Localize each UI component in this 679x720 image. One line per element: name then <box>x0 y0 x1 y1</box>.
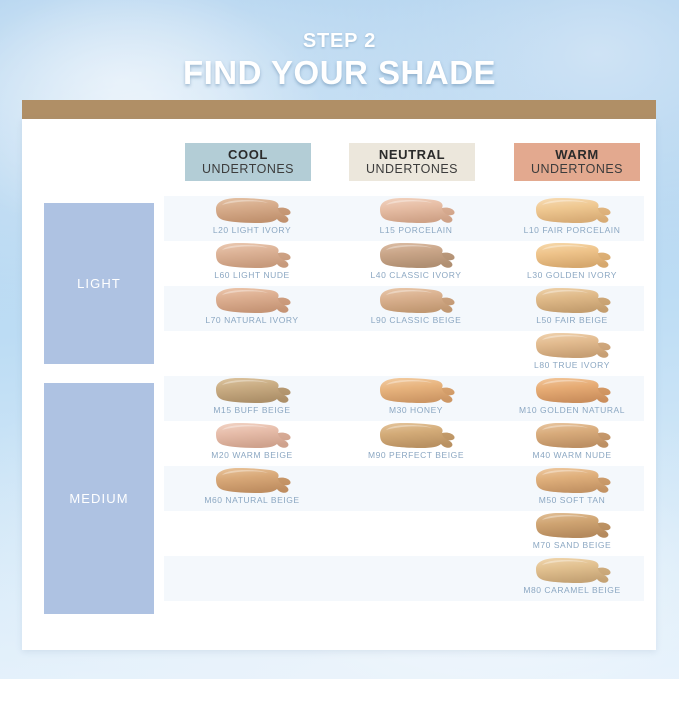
shade-swatch-l20[interactable]: L20 LIGHT IVORY <box>172 196 332 241</box>
shade-swatch-l40[interactable]: L40 CLASSIC IVORY <box>336 241 496 286</box>
shade-grid: L20 LIGHT IVORY L60 LIGHT NUDE L70 NATUR… <box>164 196 644 620</box>
shade-swatch-smear <box>532 332 624 360</box>
shade-swatch-m90[interactable]: M90 PERFECT BEIGE <box>336 421 496 466</box>
shade-swatch-m20[interactable]: M20 WARM BEIGE <box>172 421 332 466</box>
smear-icon <box>376 287 468 314</box>
column-subtitle-neutral: UNDERTONES <box>366 162 458 176</box>
shade-swatch-l30[interactable]: L30 GOLDEN IVORY <box>492 241 652 286</box>
column-header-cool: COOL UNDERTONES <box>185 143 311 181</box>
depth-block-light: LIGHT <box>44 203 154 364</box>
shade-name-label: M70 SAND BEIGE <box>492 540 652 550</box>
shade-name-label: L10 FAIR PORCELAIN <box>492 225 652 235</box>
column-header-neutral: NEUTRAL UNDERTONES <box>349 143 475 181</box>
shade-swatch-l60[interactable]: L60 LIGHT NUDE <box>172 241 332 286</box>
shade-name-label: M10 GOLDEN NATURAL <box>492 405 652 415</box>
smear-icon <box>212 422 304 449</box>
shade-swatch-smear <box>532 287 624 315</box>
shade-swatch-smear <box>532 467 624 495</box>
shade-swatch-smear <box>212 467 304 495</box>
smear-icon <box>376 242 468 269</box>
shade-swatch-smear <box>212 422 304 450</box>
shade-swatch-l90[interactable]: L90 CLASSIC BEIGE <box>336 286 496 331</box>
smear-icon <box>532 332 624 359</box>
shade-name-label: M90 PERFECT BEIGE <box>336 450 496 460</box>
depth-block-medium: MEDIUM <box>44 383 154 614</box>
shade-swatch-m30[interactable]: M30 HONEY <box>336 376 496 421</box>
shade-swatch-smear <box>376 287 468 315</box>
shade-swatch-smear <box>212 287 304 315</box>
smear-icon <box>532 242 624 269</box>
shade-swatch-smear <box>532 197 624 225</box>
shade-name-label: L40 CLASSIC IVORY <box>336 270 496 280</box>
shade-name-label: L15 PORCELAIN <box>336 225 496 235</box>
smear-icon <box>376 377 468 404</box>
page-header: STEP 2 FIND YOUR SHADE <box>0 0 679 100</box>
shade-swatch-m10[interactable]: M10 GOLDEN NATURAL <box>492 376 652 421</box>
smear-icon <box>532 467 624 494</box>
column-title-cool: COOL <box>228 148 268 162</box>
column-title-neutral: NEUTRAL <box>379 148 445 162</box>
depth-label-medium: MEDIUM <box>69 491 128 506</box>
shade-name-label: M40 WARM NUDE <box>492 450 652 460</box>
smear-icon <box>532 377 624 404</box>
smear-icon <box>376 422 468 449</box>
column-subtitle-cool: UNDERTONES <box>202 162 294 176</box>
smear-icon <box>212 377 304 404</box>
shade-name-label: L60 LIGHT NUDE <box>172 270 332 280</box>
shade-swatch-smear <box>532 377 624 405</box>
shade-swatch-smear <box>376 242 468 270</box>
shade-swatch-l10[interactable]: L10 FAIR PORCELAIN <box>492 196 652 241</box>
shade-swatch-smear <box>212 197 304 225</box>
shade-swatch-smear <box>532 422 624 450</box>
shade-name-label: L30 GOLDEN IVORY <box>492 270 652 280</box>
shade-swatch-smear <box>532 242 624 270</box>
smear-icon <box>532 422 624 449</box>
smear-icon <box>532 557 624 584</box>
shade-name-label: M30 HONEY <box>336 405 496 415</box>
shade-swatch-l80[interactable]: L80 TRUE IVORY <box>492 331 652 376</box>
column-subtitle-warm: UNDERTONES <box>531 162 623 176</box>
column-title-warm: WARM <box>555 148 599 162</box>
shade-swatch-l15[interactable]: L15 PORCELAIN <box>336 196 496 241</box>
smear-icon <box>532 512 624 539</box>
shade-swatch-smear <box>376 422 468 450</box>
shade-name-label: L80 TRUE IVORY <box>492 360 652 370</box>
shade-swatch-smear <box>376 377 468 405</box>
shade-swatch-m60[interactable]: M60 NATURAL BEIGE <box>172 466 332 511</box>
smear-icon <box>532 287 624 314</box>
shade-swatch-smear <box>532 512 624 540</box>
smear-icon <box>212 242 304 269</box>
shade-name-label: L70 NATURAL IVORY <box>172 315 332 325</box>
shade-name-label: L50 FAIR BEIGE <box>492 315 652 325</box>
shade-swatch-smear <box>376 197 468 225</box>
column-header-warm: WARM UNDERTONES <box>514 143 640 181</box>
shade-swatch-m40[interactable]: M40 WARM NUDE <box>492 421 652 466</box>
smear-icon <box>212 287 304 314</box>
smear-icon <box>212 467 304 494</box>
shade-name-label: M20 WARM BEIGE <box>172 450 332 460</box>
shade-swatch-smear <box>532 557 624 585</box>
shade-swatch-l50[interactable]: L50 FAIR BEIGE <box>492 286 652 331</box>
step-label: STEP 2 <box>0 30 679 53</box>
smear-icon <box>212 197 304 224</box>
shade-name-label: M80 CARAMEL BEIGE <box>492 585 652 595</box>
brown-divider-bar <box>22 100 656 119</box>
shade-swatch-l70[interactable]: L70 NATURAL IVORY <box>172 286 332 331</box>
shade-chart-card: COOL UNDERTONES NEUTRAL UNDERTONES WARM … <box>22 119 656 650</box>
smear-icon <box>376 197 468 224</box>
shade-swatch-m80[interactable]: M80 CARAMEL BEIGE <box>492 556 652 601</box>
shade-swatch-m15[interactable]: M15 BUFF BEIGE <box>172 376 332 421</box>
page-title: FIND YOUR SHADE <box>0 54 679 92</box>
shade-swatch-m50[interactable]: M50 SOFT TAN <box>492 466 652 511</box>
shade-swatch-m70[interactable]: M70 SAND BEIGE <box>492 511 652 556</box>
shade-name-label: M15 BUFF BEIGE <box>172 405 332 415</box>
smear-icon <box>532 197 624 224</box>
shade-name-label: L90 CLASSIC BEIGE <box>336 315 496 325</box>
shade-name-label: M60 NATURAL BEIGE <box>172 495 332 505</box>
shade-swatch-smear <box>212 377 304 405</box>
shade-name-label: L20 LIGHT IVORY <box>172 225 332 235</box>
shade-swatch-smear <box>212 242 304 270</box>
shade-name-label: M50 SOFT TAN <box>492 495 652 505</box>
depth-label-light: LIGHT <box>77 276 121 291</box>
